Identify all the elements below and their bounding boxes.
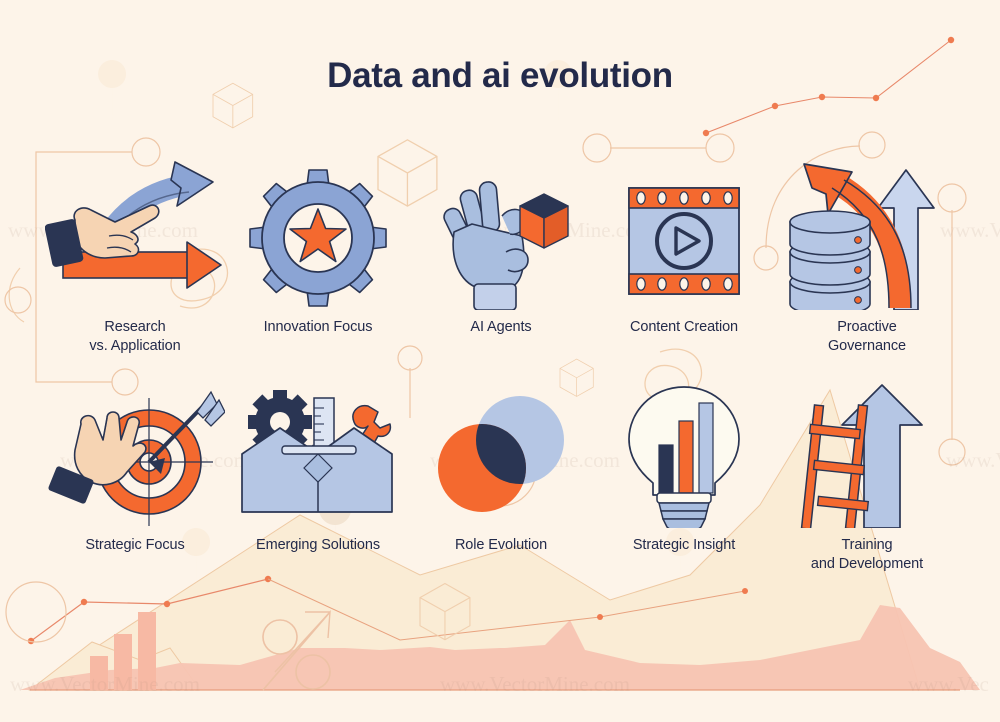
- watermark-text: www.Vec: [908, 672, 989, 697]
- percent-symbol-decor: [263, 612, 330, 690]
- node-circle: [583, 134, 611, 162]
- item-label: Content Creation: [630, 318, 738, 337]
- watermark-text: www.VectorMine.com: [10, 672, 200, 697]
- infographic-canvas: Data and ai evolution Research vs.: [0, 0, 1000, 722]
- watermark-text: www.VectorMine.com: [440, 672, 630, 697]
- item-innovation-focus[interactable]: Innovation Focus: [218, 160, 418, 370]
- toolbox-gears-wrench-icon: [218, 388, 418, 528]
- item-content-creation[interactable]: Content Creation: [584, 160, 784, 370]
- database-stack: [790, 211, 870, 310]
- bar-chart-decor: [90, 612, 156, 690]
- node-circle: [859, 132, 885, 158]
- item-ai-agents[interactable]: AI Agents: [401, 160, 601, 370]
- item-label: Emerging Solutions: [256, 536, 380, 555]
- item-role-evolution[interactable]: Role Evolution: [401, 388, 601, 598]
- item-label: Innovation Focus: [264, 318, 373, 337]
- gear-star-icon: [218, 160, 418, 310]
- database-arrows-icon: [767, 160, 967, 310]
- item-label: Strategic Insight: [633, 536, 735, 555]
- venn-circles-icon: [401, 388, 601, 528]
- item-label: Research vs. Application: [89, 318, 180, 356]
- item-strategic-focus[interactable]: Strategic Focus: [35, 388, 235, 598]
- mountain-beige-left: [30, 642, 200, 690]
- item-research-vs-application[interactable]: Research vs. Application: [35, 160, 235, 370]
- node-circle: [5, 287, 31, 313]
- robot-hand-cube-icon: [401, 160, 601, 310]
- hand-target-arrow-icon: [35, 388, 235, 528]
- item-label: Training and Development: [811, 536, 923, 574]
- item-label: Proactive Governance: [828, 318, 906, 356]
- hand-pointing-arrows-icon: [35, 160, 235, 310]
- ladder-arrow-icon: [767, 388, 967, 528]
- mountain-salmon-right: [20, 605, 980, 690]
- lightbulb-bars-icon: [584, 388, 784, 528]
- item-label: AI Agents: [470, 318, 531, 337]
- ladder: [802, 405, 869, 528]
- cube-3d: [520, 194, 568, 248]
- item-label: Strategic Focus: [85, 536, 184, 555]
- item-label: Role Evolution: [455, 536, 547, 555]
- item-emerging-solutions[interactable]: Emerging Solutions: [218, 388, 418, 598]
- item-proactive-governance[interactable]: Proactive Governance: [767, 160, 967, 370]
- bulb-base: [657, 493, 711, 528]
- film-play-icon: [584, 160, 784, 310]
- item-training-and-development[interactable]: Training and Development: [767, 388, 967, 598]
- item-strategic-insight[interactable]: Strategic Insight: [584, 388, 784, 598]
- node-circle: [706, 134, 734, 162]
- page-title: Data and ai evolution: [0, 56, 1000, 96]
